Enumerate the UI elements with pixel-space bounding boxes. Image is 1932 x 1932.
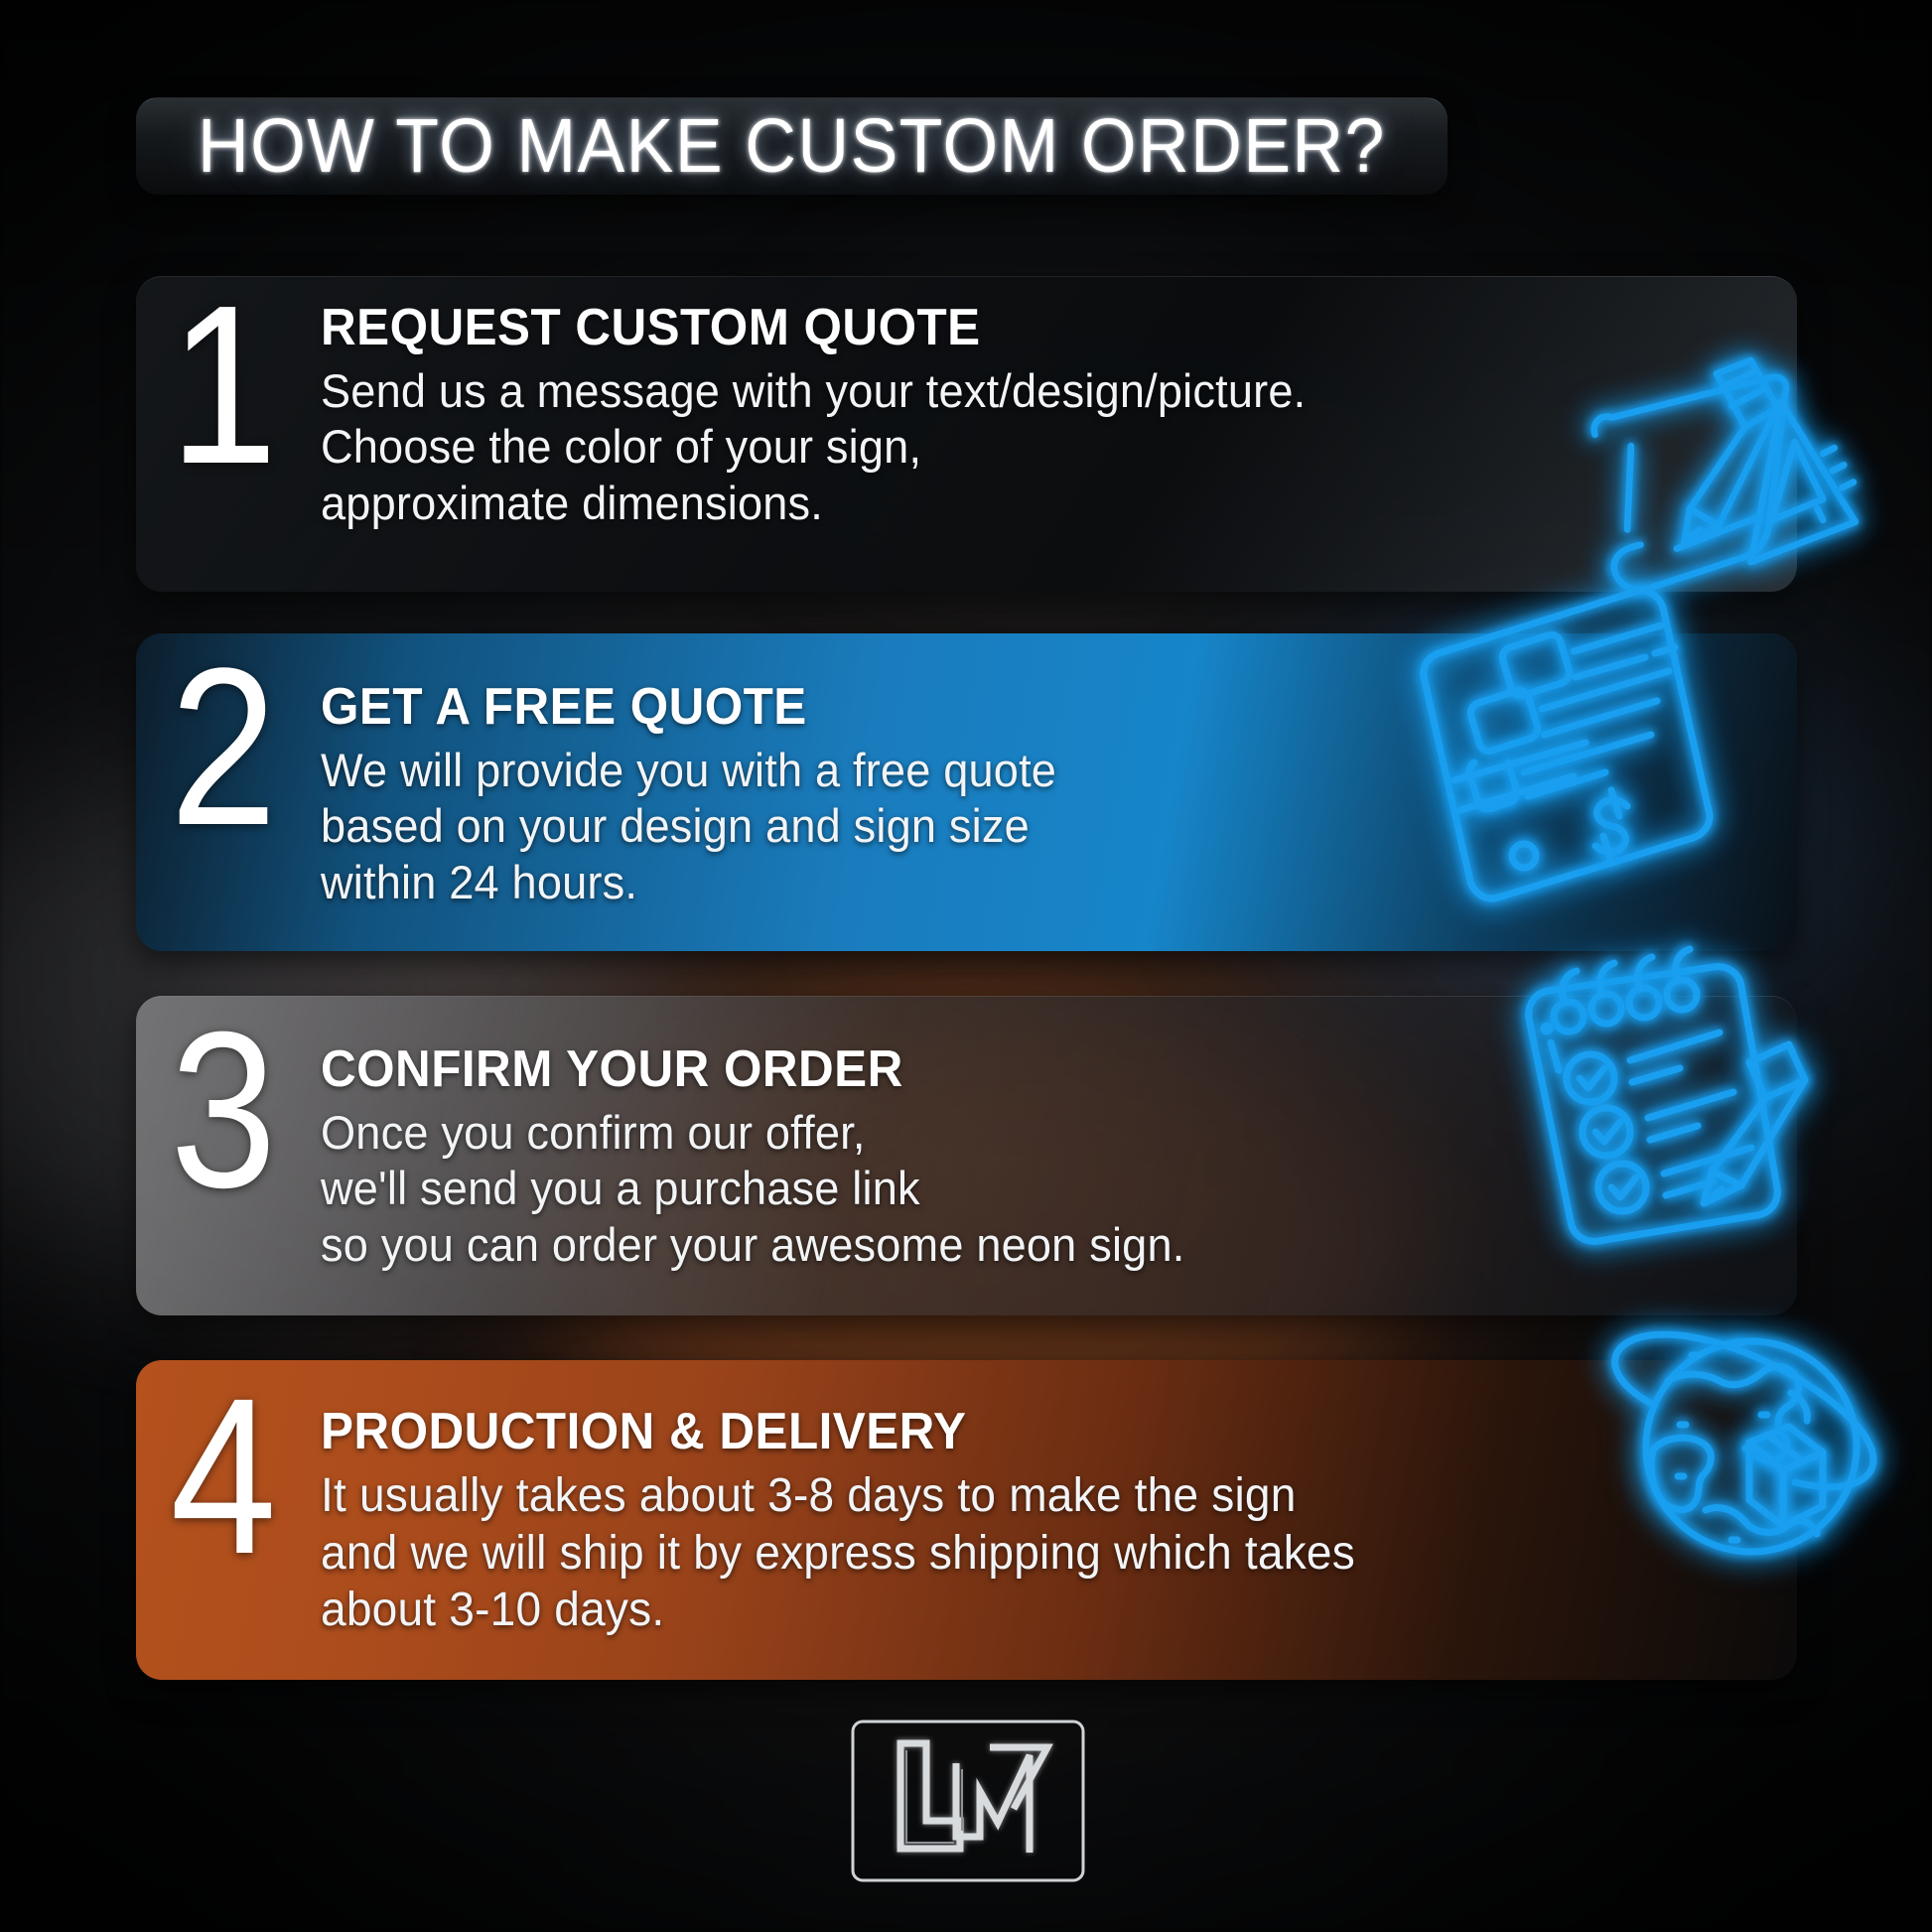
page-title-bar: HOW TO MAKE CUSTOM ORDER? <box>136 97 1448 195</box>
step-number-3: 3 <box>148 996 298 1212</box>
step-desc-3-line-1: Once you confirm our offer, <box>321 1105 1738 1161</box>
page-title: HOW TO MAKE CUSTOM ORDER? <box>198 102 1386 191</box>
step-title-1: REQUEST CUSTOM QUOTE <box>321 298 1724 357</box>
step-content-2: GET A FREE QUOTE We will provide you wit… <box>311 633 1797 910</box>
step-card-2: 2 GET A FREE QUOTE We will provide you w… <box>136 633 1797 951</box>
ln-neon-logo <box>849 1718 1087 1884</box>
step-desc-3-line-2: we'll send you a purchase link <box>321 1161 1738 1216</box>
step-desc-1-line-2: Choose the color of your sign, <box>321 419 1738 475</box>
step-card-1: 1 REQUEST CUSTOM QUOTE Send us a message… <box>136 276 1797 592</box>
step-number-1: 1 <box>148 276 298 490</box>
step-title-4: PRODUCTION & DELIVERY <box>321 1402 1724 1461</box>
step-desc-3-line-3: so you can order your awesome neon sign. <box>321 1217 1738 1273</box>
infographic-poster: HOW TO MAKE CUSTOM ORDER? 1 REQUEST CUST… <box>0 0 1932 1932</box>
step-desc-2-line-3: within 24 hours. <box>321 855 1738 910</box>
step-content-4: PRODUCTION & DELIVERY It usually takes a… <box>311 1360 1797 1639</box>
step-number-4: 4 <box>148 1360 298 1579</box>
step-desc-4-line-1: It usually takes about 3-8 days to make … <box>321 1467 1738 1525</box>
step-content-1: REQUEST CUSTOM QUOTE Send us a message w… <box>311 276 1797 531</box>
step-desc-1-line-3: approximate dimensions. <box>321 476 1738 531</box>
step-content-3: CONFIRM YOUR ORDER Once you confirm our … <box>311 996 1797 1273</box>
step-desc-4-line-2: and we will ship it by express shipping … <box>321 1525 1738 1583</box>
step-title-3: CONFIRM YOUR ORDER <box>321 1039 1724 1099</box>
step-title-2: GET A FREE QUOTE <box>321 677 1724 737</box>
step-number-2: 2 <box>148 633 298 850</box>
step-desc-1-line-1: Send us a message with your text/design/… <box>321 363 1738 419</box>
step-desc-4-line-3: about 3-10 days. <box>321 1582 1738 1639</box>
step-card-4: 4 PRODUCTION & DELIVERY It usually takes… <box>136 1360 1797 1680</box>
step-card-3: 3 CONFIRM YOUR ORDER Once you confirm ou… <box>136 996 1797 1315</box>
step-desc-2-line-1: We will provide you with a free quote <box>321 743 1738 798</box>
step-desc-2-line-2: based on your design and sign size <box>321 798 1738 854</box>
